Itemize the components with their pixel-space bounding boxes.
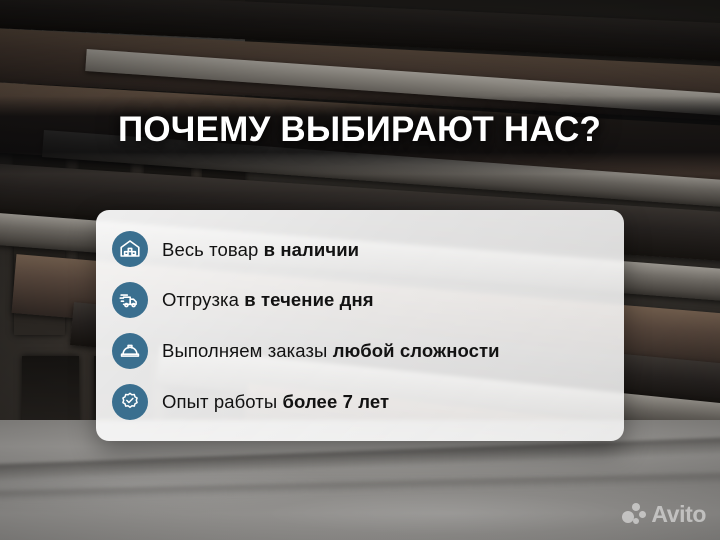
list-item-label-regular: Опыт работы	[162, 391, 282, 412]
page-title: ПОЧЕМУ ВЫБИРАЮТ НАС?	[118, 112, 601, 149]
list-item-label: Отгрузка в течение дня	[162, 289, 374, 310]
avito-wordmark: Avito	[651, 503, 706, 526]
list-item: Опыт работы более 7 лет	[112, 376, 606, 427]
delivery-truck-icon	[112, 282, 148, 318]
warehouse-icon	[112, 231, 148, 267]
advertisement-banner: ПОЧЕМУ ВЫБИРАЮТ НАС? Весь товар в наличи…	[0, 0, 720, 540]
benefits-card: Весь товар в наличии Отгрузка в течение …	[96, 210, 624, 441]
list-item-label-regular: Выполняем заказы	[162, 340, 333, 361]
verified-badge-icon	[112, 384, 148, 420]
avito-dots-logo	[622, 502, 646, 526]
avito-watermark: Avito	[622, 502, 706, 526]
list-item-label: Опыт работы более 7 лет	[162, 391, 389, 412]
list-item-label-bold: в течение дня	[244, 289, 373, 310]
list-item: Выполняем заказы любой сложности	[112, 326, 606, 377]
list-item-label-regular: Весь товар	[162, 239, 264, 260]
list-item-label-bold: в наличии	[264, 239, 360, 260]
hard-hat-icon	[112, 333, 148, 369]
list-item-label: Выполняем заказы любой сложности	[162, 340, 500, 361]
list-item: Весь товар в наличии	[112, 224, 606, 275]
list-item-label: Весь товар в наличии	[162, 239, 359, 260]
list-item-label-regular: Отгрузка	[162, 289, 244, 310]
list-item: Отгрузка в течение дня	[112, 275, 606, 326]
list-item-label-bold: любой сложности	[333, 340, 500, 361]
list-item-label-bold: более 7 лет	[282, 391, 389, 412]
